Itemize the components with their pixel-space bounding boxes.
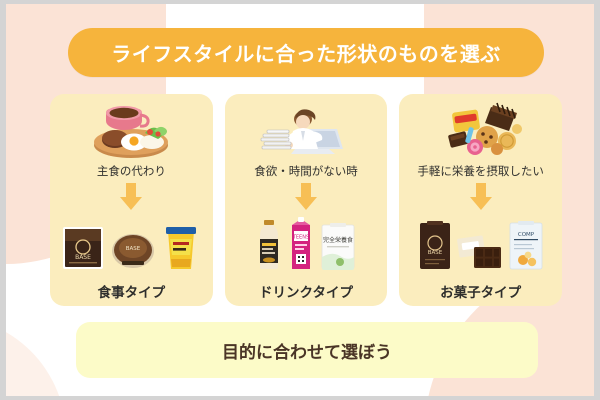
footer-banner: 目的に合わせて選ぼう [76,322,538,378]
product-bowl-base-pasta: BASE [110,231,156,275]
product-label: BASE [75,254,91,261]
product-chocolate-bar [457,231,503,275]
product-powder-pouch: 完全栄養食 [320,223,356,275]
meal-plate-icon [50,100,213,162]
down-arrow-icon [468,183,494,215]
busy-office-worker-icon [225,100,388,162]
product-label: BASE [427,250,442,256]
card-cause-label: 手軽に栄養を摂取したい [417,163,544,179]
category-card-snack[interactable]: 手軽に栄養を摂取したい BASE [399,94,562,306]
product-image-row: TEENS 完全栄養食 [225,217,388,275]
card-type-label: 食事タイプ [98,281,166,301]
card-type-label: ドリンクタイプ [259,281,353,301]
category-card-drink[interactable]: 食欲・時間がない時 [225,94,388,306]
infographic-canvas: ライフスタイルに合った形状のものを選ぶ [0,0,600,400]
product-carton-drink: TEENS [287,217,315,275]
product-label: BASE [126,246,141,252]
down-arrow-icon [293,183,319,215]
product-label: TEENS [292,235,309,241]
product-bottle-drink [256,219,282,275]
footer-text: 目的に合わせて選ぼう [222,338,392,363]
product-gummy-pouch: COMP [508,221,544,275]
title-banner: ライフスタイルに合った形状のものを選ぶ [68,28,544,77]
product-cookie-pouch-base: BASE [418,221,452,275]
product-label: 完全栄養食 [323,236,353,244]
product-image-row: BASE [399,217,562,275]
product-image-row: BASE BASE [50,217,213,275]
category-card-meal[interactable]: 主食の代わり BASE [50,94,213,306]
product-pouch-base-bread: BASE [61,225,105,275]
card-cause-label: 主食の代わり [97,163,166,179]
card-type-label: お菓子タイプ [440,281,521,301]
product-label: COMP [518,232,535,238]
down-arrow-icon [118,183,144,215]
page-title: ライフスタイルに合った形状のものを選ぶ [111,38,501,67]
assorted-snacks-icon [399,100,562,162]
category-card-row: 主食の代わり BASE [50,94,562,306]
product-cup-noodle [161,225,201,275]
decorative-blob-bottom-left [0,316,66,400]
card-cause-label: 食欲・時間がない時 [254,163,358,179]
